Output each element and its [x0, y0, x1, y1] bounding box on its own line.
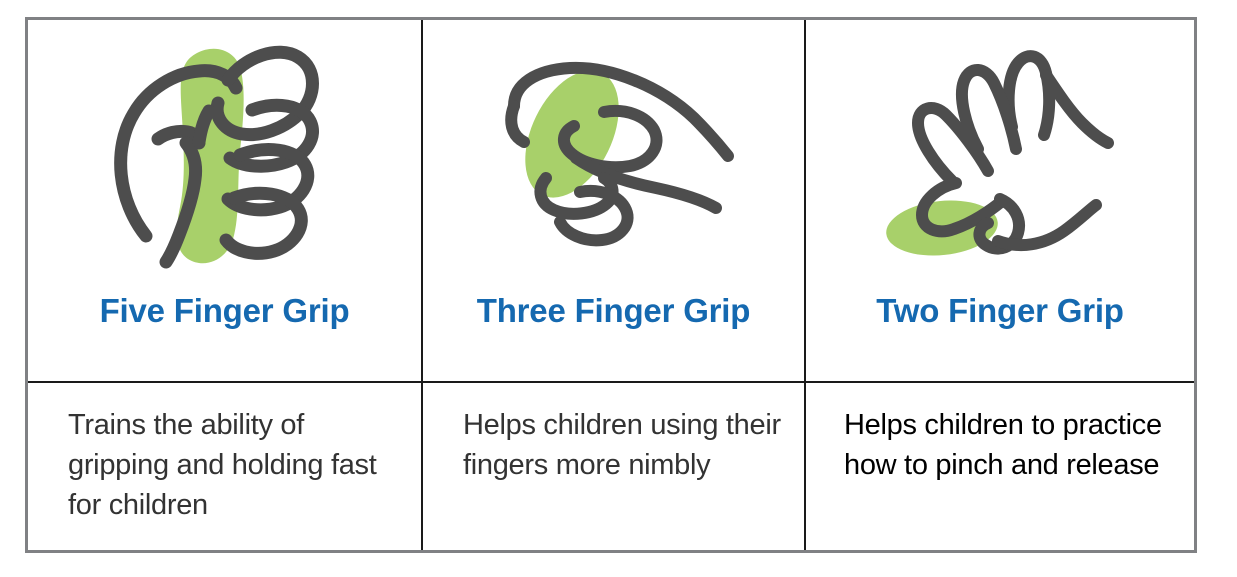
description-cell-two-finger: Helps children to practice how to pinch … [804, 383, 1194, 550]
grip-types-infographic: Five Finger Grip [0, 0, 1237, 577]
five-finger-grip-hand-icon [100, 31, 350, 281]
grip-cell-three-finger: Three Finger Grip [421, 20, 804, 381]
grip-title-two-finger: Two Finger Grip [806, 294, 1194, 327]
five-finger-grip-illustration [28, 20, 421, 292]
grip-description-two-finger: Helps children to practice how to pinch … [806, 383, 1194, 485]
grip-description-three-finger: Helps children using their fingers more … [423, 383, 804, 485]
two-finger-grip-hand-icon [860, 31, 1140, 281]
illustration-row: Five Finger Grip [28, 20, 1194, 381]
description-row: Trains the ability of gripping and holdi… [28, 381, 1194, 550]
grip-cell-two-finger: Two Finger Grip [804, 20, 1194, 381]
three-finger-grip-hand-icon [484, 46, 744, 266]
grip-comparison-table: Five Finger Grip [25, 17, 1197, 553]
two-finger-grip-illustration [806, 20, 1194, 292]
grip-cell-five-finger: Five Finger Grip [28, 20, 421, 381]
grip-description-five-finger: Trains the ability of gripping and holdi… [28, 383, 421, 525]
three-finger-grip-illustration [423, 20, 804, 292]
description-cell-five-finger: Trains the ability of gripping and holdi… [28, 383, 421, 550]
description-cell-three-finger: Helps children using their fingers more … [421, 383, 804, 550]
grip-title-three-finger: Three Finger Grip [423, 294, 804, 327]
grip-title-five-finger: Five Finger Grip [28, 294, 421, 327]
